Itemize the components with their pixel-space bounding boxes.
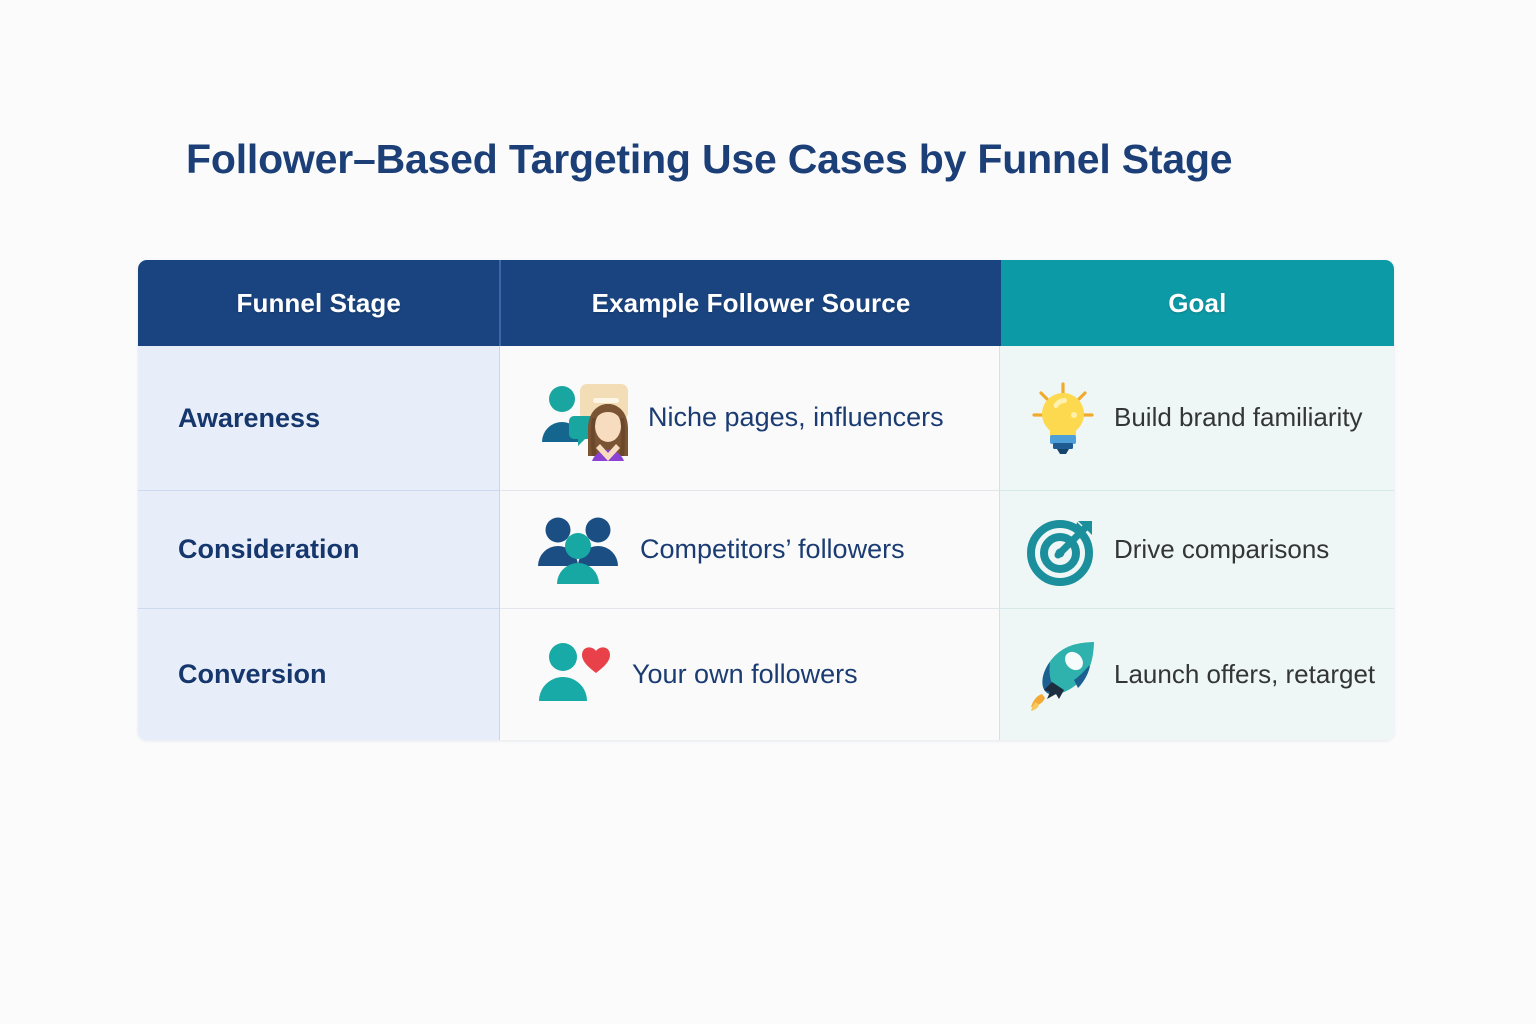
- rocket-icon: [1022, 634, 1104, 716]
- cell-funnel-stage: Conversion: [138, 608, 500, 740]
- funnel-stage-label: Awareness: [178, 403, 320, 434]
- cell-example-follower-source: Competitors’ followers: [500, 490, 1000, 608]
- cell-goal: Drive comparisons: [1000, 490, 1394, 608]
- column-header-example-follower-source: Example Follower Source: [501, 260, 1000, 346]
- funnel-stage-label: Consideration: [178, 534, 360, 565]
- column-header-funnel-stage: Funnel Stage: [138, 260, 501, 346]
- source-text: Your own followers: [632, 655, 858, 694]
- group-of-people-icon: [530, 502, 626, 598]
- page-title: Follower–Based Targeting Use Cases by Fu…: [186, 136, 1386, 183]
- table-row: Conversion Your own followers: [138, 608, 1394, 740]
- cell-example-follower-source: Niche pages, influencers: [500, 346, 1000, 490]
- person-with-heart-icon: [530, 631, 618, 719]
- goal-text: Build brand familiarity: [1114, 399, 1363, 437]
- goal-text: Drive comparisons: [1114, 531, 1329, 569]
- two-people-speech-bubbles-icon: [530, 366, 634, 470]
- lightbulb-icon: [1022, 377, 1104, 459]
- funnel-stage-table: Funnel Stage Example Follower Source Goa…: [138, 260, 1394, 740]
- cell-funnel-stage: Awareness: [138, 346, 500, 490]
- table-header-row: Funnel Stage Example Follower Source Goa…: [138, 260, 1394, 346]
- source-text: Niche pages, influencers: [648, 398, 944, 437]
- table-row: Awareness: [138, 346, 1394, 490]
- column-header-goal: Goal: [1001, 260, 1394, 346]
- source-text: Competitors’ followers: [640, 530, 905, 569]
- cell-goal: Launch offers, retarget: [1000, 608, 1394, 740]
- cell-example-follower-source: Your own followers: [500, 608, 1000, 740]
- infographic-page: Follower–Based Targeting Use Cases by Fu…: [0, 0, 1536, 1024]
- target-dartboard-icon: [1022, 509, 1104, 591]
- funnel-stage-label: Conversion: [178, 659, 327, 690]
- goal-text: Launch offers, retarget: [1114, 656, 1375, 694]
- cell-goal: Build brand familiarity: [1000, 346, 1394, 490]
- cell-funnel-stage: Consideration: [138, 490, 500, 608]
- table-row: Consideration Competitors’ fo: [138, 490, 1394, 608]
